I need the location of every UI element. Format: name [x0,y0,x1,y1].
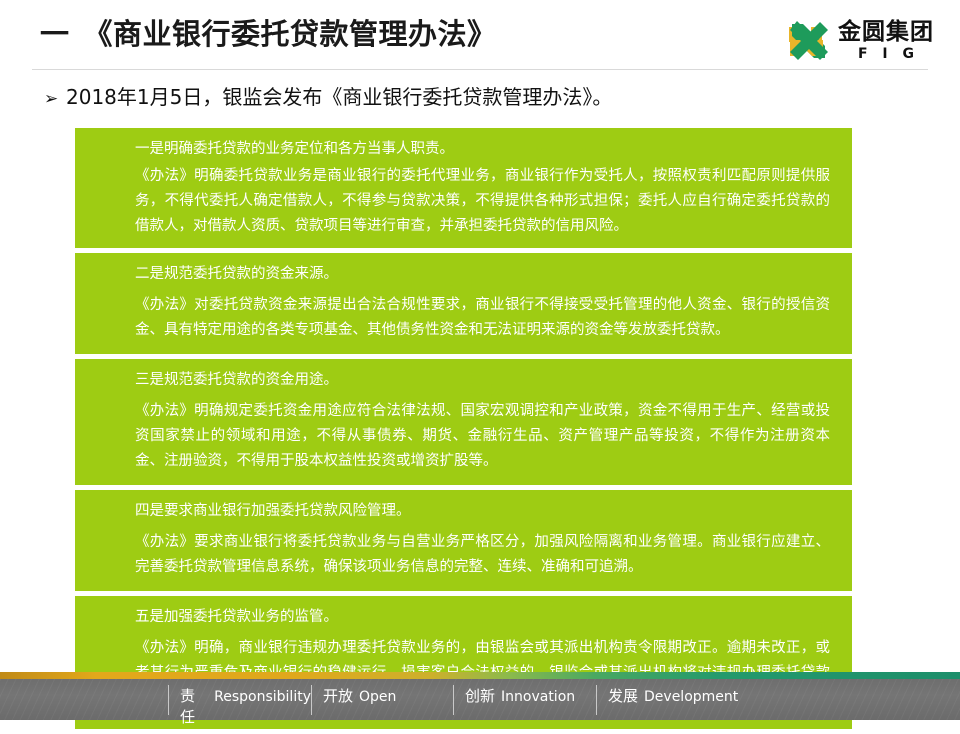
panel-body: 《办法》明确委托贷款业务是商业银行的委托代理业务，商业银行作为受托人，按照权责利… [135,164,830,239]
content-panel: 二是规范委托贷款的资金来源。 《办法》对委托贷款资金来源提出合法合规性要求，商业… [75,253,852,354]
footer-item-cn: 开放 [323,685,353,706]
logo-cn-text: 金圆集团 [838,21,934,44]
footer-item-open: 开放 Open [311,685,453,715]
page-title: 一《商业银行委托贷款管理办法》 [40,14,497,54]
footer-gradient-stripe [0,672,960,679]
footer-item-cn: 创新 [465,685,495,706]
logo-wordmark: 金圆集团 F I G [838,21,934,61]
panel-heading: 五是加强委托贷款业务的监管。 [135,605,830,630]
slide-header: 一《商业银行委托贷款管理办法》 金圆集团 F I G [0,0,960,72]
footer-item-innovation: 创新 Innovation [453,685,596,715]
content-panel: 四是要求商业银行加强委托贷款风险管理。 《办法》要求商业银行将委托贷款业务与自营… [75,490,852,591]
panel-heading: 二是规范委托贷款的资金来源。 [135,262,830,287]
footer-item-cn: 发展 [608,685,638,706]
footer-item-responsibility: 责任 Responsibility [168,685,311,715]
footer-value-list: 责任 Responsibility 开放 Open 创新 Innovation … [168,679,756,720]
slide-root: 一《商业银行委托贷款管理办法》 金圆集团 F I G [0,0,960,720]
panel-body: 《办法》明确规定委托资金用途应符合法律法规、国家宏观调控和产业政策，资金不得用于… [135,399,830,474]
title-dash: 一 [40,14,70,54]
footer-item-en: Open [359,689,396,705]
footer-item-en: Development [644,689,738,705]
panel-heading: 三是规范委托贷款的资金用途。 [135,368,830,393]
company-logo: 金圆集团 F I G [784,18,934,64]
content-panel: 一是明确委托贷款的业务定位和各方当事人职责。 《办法》明确委托贷款业务是商业银行… [75,128,852,248]
footer-item-en: Responsibility [214,689,311,705]
header-divider [32,69,928,70]
content-panel: 三是规范委托贷款的资金用途。 《办法》明确规定委托资金用途应符合法律法规、国家宏… [75,359,852,485]
footer-item-en: Innovation [501,689,575,705]
slide-footer: 责任 Responsibility 开放 Open 创新 Innovation … [0,672,960,720]
panel-heading: 四是要求商业银行加强委托贷款风险管理。 [135,499,830,524]
panel-body: 《办法》对委托贷款资金来源提出合法合规性要求，商业银行不得接受受托管理的他人资金… [135,293,830,343]
lead-bullet-line: ➢2018年1月5日，银监会发布《商业银行委托贷款管理办法》。 [44,83,612,113]
footer-item-development: 发展 Development [596,685,756,715]
logo-en-text: F I G [853,47,919,61]
content-panel-list: 一是明确委托贷款的业务定位和各方当事人职责。 《办法》明确委托贷款业务是商业银行… [75,128,852,734]
arrow-bullet-icon: ➢ [44,85,66,113]
title-text: 《商业银行委托贷款管理办法》 [84,17,497,51]
logo-mark-icon [784,18,830,64]
footer-item-cn: 责任 [180,685,208,727]
panel-heading: 一是明确委托贷款的业务定位和各方当事人职责。 [135,137,830,162]
lead-text: 2018年1月5日，银监会发布《商业银行委托贷款管理办法》。 [66,85,612,109]
panel-body: 《办法》要求商业银行将委托贷款业务与自营业务严格区分，加强风险隔离和业务管理。商… [135,530,830,580]
